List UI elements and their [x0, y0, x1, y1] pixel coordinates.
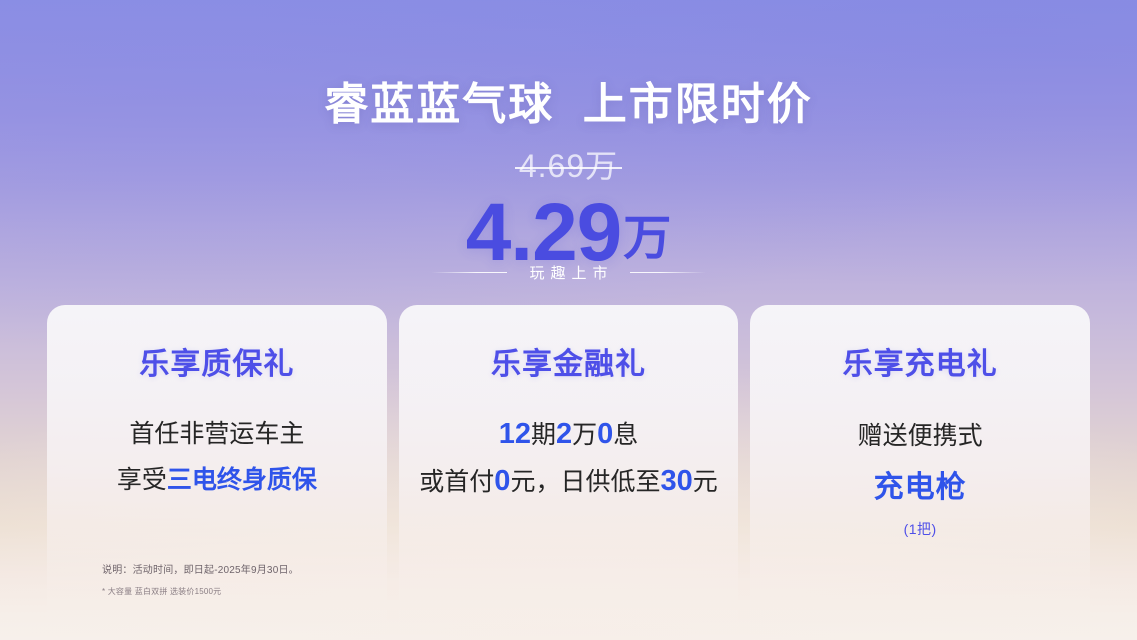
finance-downpay-value: 0	[494, 465, 510, 497]
card-title-warranty: 乐享质保礼	[47, 347, 387, 383]
footnotes: 说明：活动时间，即日起-2025年9月30日。 * 大容量 蓝白双拼 选装价15…	[102, 563, 299, 598]
card-body-warranty: 首任非营运车主 享受三电终身质保	[47, 411, 387, 503]
card-body-charging: 赠送便携式 充电枪	[750, 413, 1090, 511]
finance-interest: 0	[597, 418, 613, 450]
finance-downpay-prefix: 或首付	[419, 468, 494, 496]
finance-term-count: 12	[499, 418, 531, 450]
card-title-charging: 乐享充电礼	[750, 347, 1090, 383]
warranty-line-2: 享受三电终身质保	[47, 457, 387, 503]
finance-downpay-mid: 元，日供低至	[510, 468, 660, 496]
warranty-line-2-prefix: 享受	[117, 466, 167, 494]
finance-line-1: 12期2万0息	[399, 411, 739, 458]
finance-line-2: 或首付0元，日供低至30元	[399, 458, 739, 505]
card-body-finance: 12期2万0息 或首付0元，日供低至30元	[399, 411, 739, 505]
tagline-text: 玩趣上市	[523, 262, 613, 283]
price-block: 4.69万 4.29万	[0, 146, 1137, 274]
page-title: 睿蓝蓝气球 上市限时价	[0, 80, 1137, 131]
charging-line-1: 赠送便携式	[750, 413, 1090, 459]
benefit-card-charging: 乐享充电礼 赠送便携式 充电枪 (1把)	[750, 305, 1090, 640]
footnote-option-price: * 大容量 蓝白双拼 选装价1500元	[102, 585, 299, 598]
current-price-unit: 万	[623, 212, 671, 265]
poster-content: 睿蓝蓝气球 上市限时价 4.69万 4.29万 玩趣上市 乐享质保礼 首任非营运…	[0, 0, 1137, 640]
finance-term-unit: 期	[531, 421, 556, 449]
card-title-finance: 乐享金融礼	[399, 347, 739, 383]
original-price: 4.69万	[519, 146, 618, 186]
divider-line-right	[630, 272, 706, 273]
finance-amount-unit: 万	[572, 421, 597, 449]
finance-interest-unit: 息	[613, 421, 638, 449]
charging-line-2: 充电枪	[750, 465, 1090, 511]
benefit-card-finance: 乐享金融礼 12期2万0息 或首付0元，日供低至30元	[399, 305, 739, 640]
footnote-campaign-period: 说明：活动时间，即日起-2025年9月30日。	[102, 563, 299, 579]
warranty-line-2-highlight: 三电终身质保	[167, 466, 317, 494]
charging-quantity-note: (1把)	[750, 519, 1090, 539]
warranty-line-1: 首任非营运车主	[47, 411, 387, 457]
finance-amount: 2	[556, 418, 572, 450]
promo-poster: 睿蓝蓝气球 上市限时价 4.69万 4.29万 玩趣上市 乐享质保礼 首任非营运…	[0, 0, 1137, 640]
divider-line-left	[431, 272, 507, 273]
finance-daily-unit: 元	[693, 468, 718, 496]
finance-daily-value: 30	[660, 465, 692, 497]
tagline-divider: 玩趣上市	[0, 262, 1137, 283]
